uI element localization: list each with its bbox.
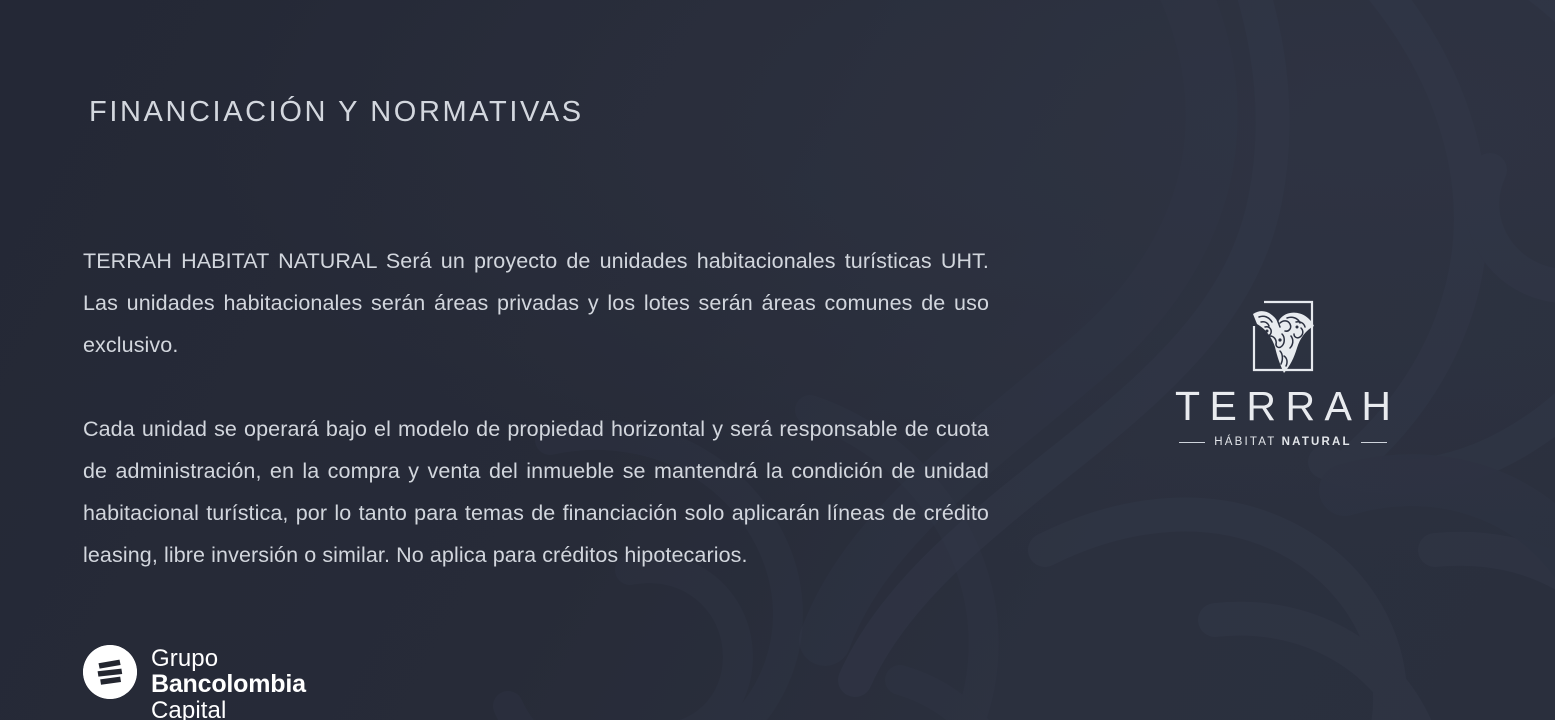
bancolombia-line-capital: Capital — [151, 699, 306, 720]
terrah-tagline-text: HÁBITAT NATURAL — [1214, 436, 1352, 448]
terrah-tagline-rule-right — [1361, 442, 1387, 443]
content-column: FINANCIACIÓN Y NORMATIVAS TERRAH HABITAT… — [83, 0, 989, 720]
terrah-logo: TERRAH HÁBITAT NATURAL — [1158, 296, 1408, 448]
bancolombia-line-grupo: Grupo — [151, 647, 306, 671]
terrah-tagline-natural: NATURAL — [1282, 436, 1352, 448]
terrah-tagline: HÁBITAT NATURAL — [1158, 436, 1408, 448]
bancolombia-logo: Grupo Bancolombia Capital — [83, 645, 306, 720]
bancolombia-wordmark: Grupo Bancolombia Capital — [151, 645, 306, 720]
body-copy: TERRAH HABITAT NATURAL Será un proyecto … — [83, 240, 989, 576]
bancolombia-line-name: Bancolombia — [151, 672, 306, 698]
page-title: FINANCIACIÓN Y NORMATIVAS — [89, 96, 584, 129]
terrah-wordmark: TERRAH — [1158, 386, 1408, 427]
slide-root: FINANCIACIÓN Y NORMATIVAS TERRAH HABITAT… — [0, 0, 1555, 720]
paragraph-spacer — [83, 366, 989, 408]
terrah-tagline-habitat: HÁBITAT — [1214, 436, 1276, 448]
bancolombia-b-mark-icon — [83, 645, 137, 699]
paragraph-2: Cada unidad se operará bajo el modelo de… — [83, 408, 989, 576]
terrah-tagline-rule-left — [1179, 442, 1205, 443]
paragraph-1: TERRAH HABITAT NATURAL Será un proyecto … — [83, 240, 989, 366]
terrah-tribal-leaf-emblem-icon — [1244, 296, 1322, 378]
